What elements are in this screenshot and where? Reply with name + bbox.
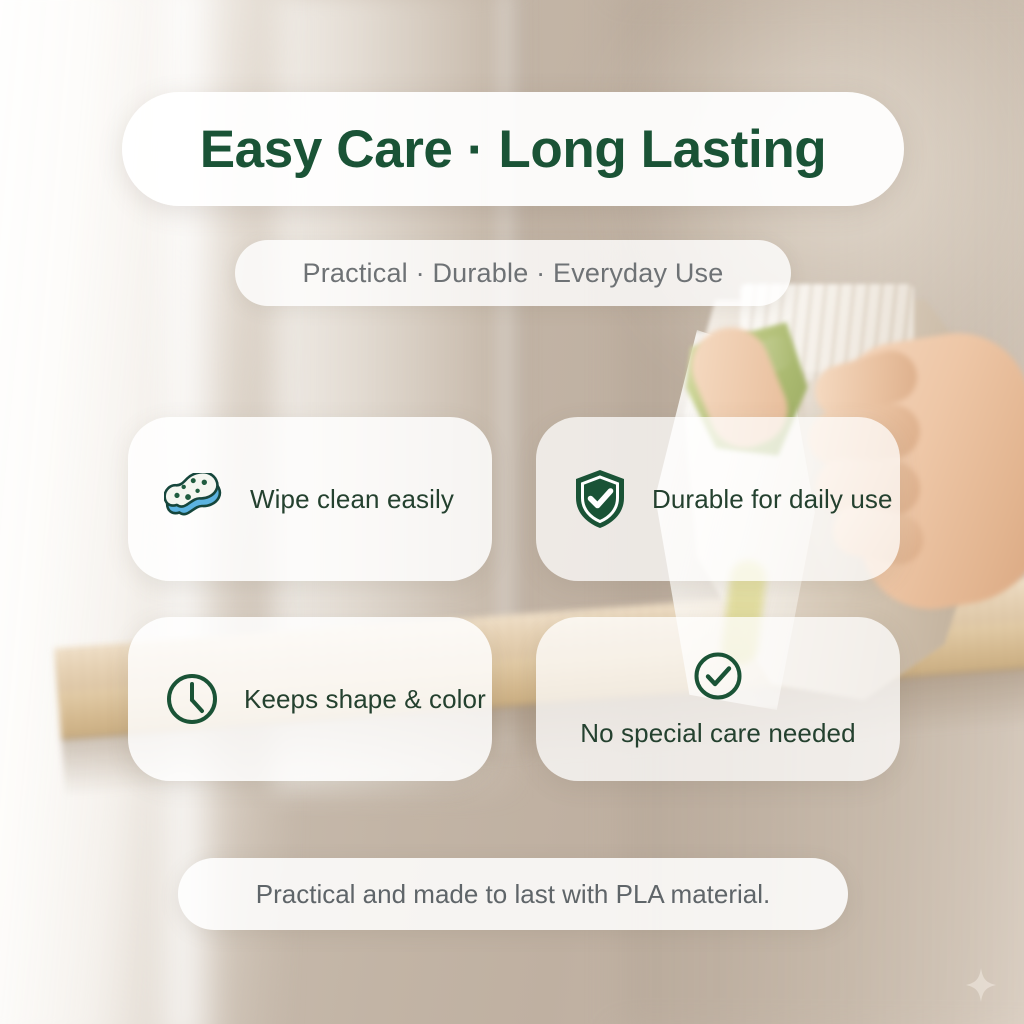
feature-label: No special care needed — [580, 718, 855, 749]
feature-label: Wipe clean easily — [250, 484, 454, 515]
feature-card-durable[interactable]: Durable for daily use — [536, 417, 900, 581]
feature-card-no-special-care[interactable]: No special care needed — [536, 617, 900, 781]
footer-pill: Practical and made to last with PLA mate… — [178, 858, 848, 930]
sparkle-icon — [966, 968, 996, 1002]
feature-card-keeps-shape[interactable]: Keeps shape & color — [128, 617, 492, 781]
shield-check-icon — [572, 468, 628, 530]
feature-card-wipe-clean[interactable]: Wipe clean easily — [128, 417, 492, 581]
circle-check-icon — [692, 650, 744, 702]
feature-label: Keeps shape & color — [244, 684, 486, 715]
sponge-icon — [164, 473, 226, 525]
footer-text: Practical and made to last with PLA mate… — [256, 879, 770, 910]
clock-icon — [164, 671, 220, 727]
overlay-layer: Easy Care · Long Lasting Practical · Dur… — [0, 0, 1024, 1024]
feature-label: Durable for daily use — [652, 484, 893, 515]
